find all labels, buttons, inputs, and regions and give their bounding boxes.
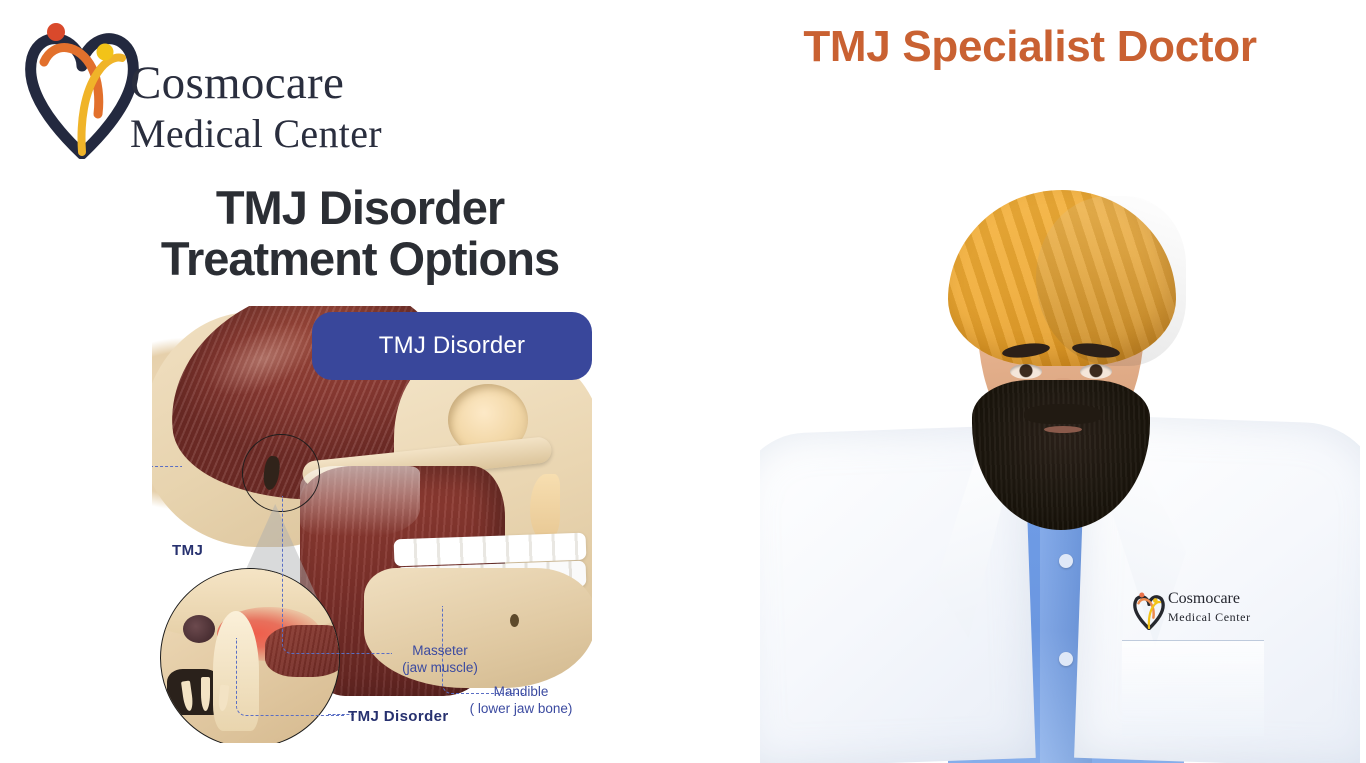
inset-socket — [183, 615, 215, 643]
label-tmj-disorder: TMJ Disorder — [348, 708, 449, 727]
coat-brand-logo: Cosmocare Medical Center — [1132, 588, 1264, 632]
coat-heart-figures-logo-icon — [1132, 590, 1166, 630]
label-tmj: TMJ — [172, 542, 203, 561]
shirt-button — [1059, 554, 1073, 568]
turban — [948, 190, 1176, 366]
brand-subtitle: Medical Center — [130, 113, 388, 155]
anatomy-illustration: TMJ Disorder TMJ Masseter (jaw muscle) M… — [152, 306, 592, 743]
turban-wrap-fold — [1036, 196, 1186, 366]
page-title-line2: Treatment Options — [100, 233, 620, 284]
label-masseter-line1: Masseter — [380, 643, 500, 660]
inset-teeth — [179, 673, 239, 711]
headline-title: TMJ Specialist Doctor — [700, 22, 1360, 72]
slide-canvas: Cosmocare Medical Center TMJ Specialist … — [0, 0, 1366, 763]
doctor-portrait: Cosmocare Medical Center — [760, 120, 1360, 763]
label-mandible-line2: ( lower jaw bone) — [458, 701, 584, 718]
tmj-anatomy-figure: TMJ Disorder TMJ Masseter (jaw muscle) M… — [152, 306, 592, 743]
eye-left — [1010, 364, 1042, 379]
brand-wordmark: Cosmocare Medical Center — [130, 60, 388, 160]
label-masseter: Masseter (jaw muscle) — [380, 643, 500, 677]
label-masseter-line2: (jaw muscle) — [380, 660, 500, 677]
eye-right — [1080, 364, 1112, 379]
shirt-button — [1059, 652, 1073, 666]
coat-chest-pocket — [1122, 640, 1264, 736]
brand-name: Cosmocare — [130, 60, 388, 107]
label-mandible-line1: Mandible — [458, 684, 584, 701]
connector-masseter — [282, 496, 392, 654]
connector-tmj-disorder — [236, 638, 344, 716]
nasal-aperture — [530, 474, 560, 540]
coat-brand-name: Cosmocare — [1168, 590, 1240, 608]
connector-tmj — [152, 466, 182, 536]
coat-brand-subtitle: Medical Center — [1168, 610, 1251, 625]
tmj-disorder-badge-label: TMJ Disorder — [379, 332, 525, 360]
heart-figures-logo-icon — [22, 14, 142, 159]
page-title: TMJ Disorder Treatment Options — [100, 182, 620, 284]
brand-logo: Cosmocare Medical Center — [22, 14, 382, 159]
mouth — [1044, 426, 1082, 433]
page-title-line1: TMJ Disorder — [216, 181, 504, 234]
label-mandible: Mandible ( lower jaw bone) — [458, 684, 584, 718]
moustache — [1024, 404, 1102, 424]
tmj-disorder-badge[interactable]: TMJ Disorder — [312, 312, 592, 380]
doctor-head — [954, 198, 1168, 456]
